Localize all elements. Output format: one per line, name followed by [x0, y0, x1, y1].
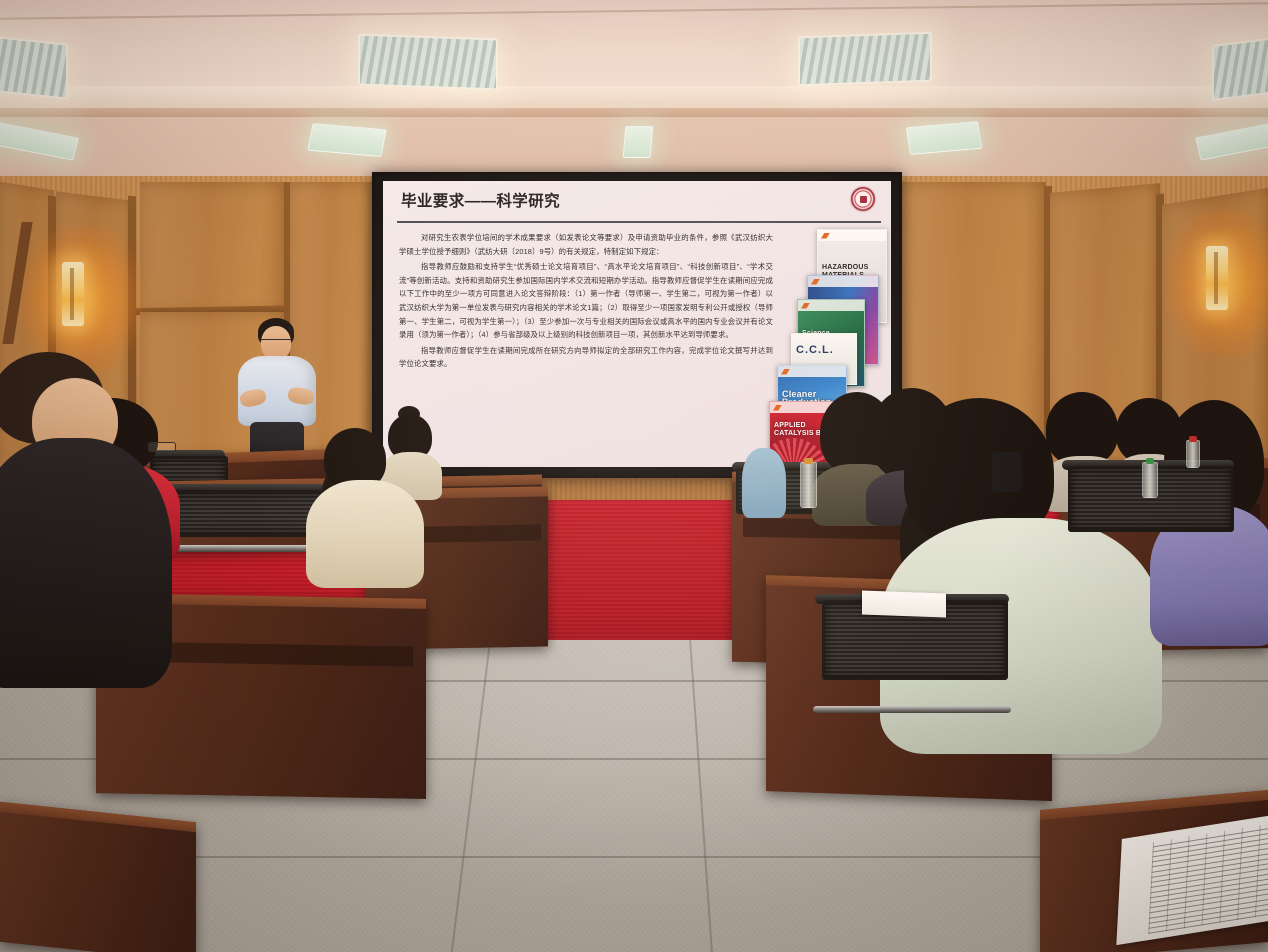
glasses-icon — [261, 339, 291, 344]
attendee-black-shirt — [0, 352, 176, 682]
slide-title-rule — [397, 221, 881, 223]
slide-paragraph: 指导教师应督促学生在读期间完成所在研究方向导师拟定的全部研究工作内容，完成学位论… — [399, 344, 773, 371]
slide-paragraph: 指导教师应鼓励和支持学生“优秀硕士论文培育项目”、“高水平论文培育项目”、“科技… — [399, 260, 773, 342]
chair-back — [158, 490, 326, 537]
tile-seam — [451, 640, 491, 952]
chair — [158, 490, 320, 556]
attendee-cream-blouse — [306, 428, 426, 588]
sconce-bar — [1214, 252, 1218, 304]
slide-body: 对研究生农表学位培间的学术成果要求（如发表论文等要求）及申请资助毕业的条件，参照… — [399, 231, 773, 461]
ceiling — [0, 0, 1268, 186]
wall-panel-center-upper — [140, 182, 288, 314]
document-table-lines — [1149, 821, 1268, 934]
publisher-bar — [818, 230, 886, 241]
torso — [742, 448, 786, 518]
bottle-cap — [1189, 436, 1196, 442]
slide-paragraph: 对研究生农表学位培间的学术成果要求（如发表论文等要求）及申请资助毕业的条件，参照… — [399, 231, 773, 258]
grid-louvre-light — [798, 32, 932, 87]
ceiling-edge — [0, 108, 1268, 117]
slide-title: 毕业要求——科学研究 — [401, 189, 877, 211]
bottle-cap — [804, 458, 813, 464]
desk-front — [0, 812, 196, 952]
grid-louvre-light — [0, 32, 68, 99]
university-seal-icon — [851, 187, 875, 211]
bottle-cap — [1146, 458, 1154, 464]
publisher-bar — [798, 300, 864, 311]
grid-louvre-light — [358, 34, 498, 91]
journal-title: C.C.L. — [796, 346, 853, 354]
water-bottle — [1186, 440, 1200, 468]
sconce-body — [1206, 246, 1228, 310]
ceiling-seam — [0, 2, 1268, 19]
sconce-body — [62, 262, 84, 326]
water-bottle — [1142, 462, 1158, 498]
hair-clip-icon — [992, 452, 1022, 492]
publisher-bar — [778, 366, 846, 377]
slide-header: 毕业要求——科学研究 — [401, 189, 877, 223]
tile-seam — [689, 640, 712, 952]
chair — [822, 600, 1002, 720]
strip-light — [623, 126, 654, 158]
document-sheet — [862, 591, 946, 618]
sconce-bar — [70, 268, 74, 320]
lecture-hall-photo: 毕业要求——科学研究 对研究生农表学位培间的学术成果要求（如发表论文等要求）及申… — [0, 0, 1268, 952]
desk — [0, 802, 196, 952]
torso — [0, 438, 172, 688]
attendee-blue-sleeve — [742, 428, 786, 518]
grid-louvre-light — [1212, 31, 1268, 101]
torso — [306, 480, 424, 588]
water-bottle — [800, 462, 817, 508]
chair-arm — [813, 706, 1011, 713]
publisher-bar — [808, 276, 878, 287]
